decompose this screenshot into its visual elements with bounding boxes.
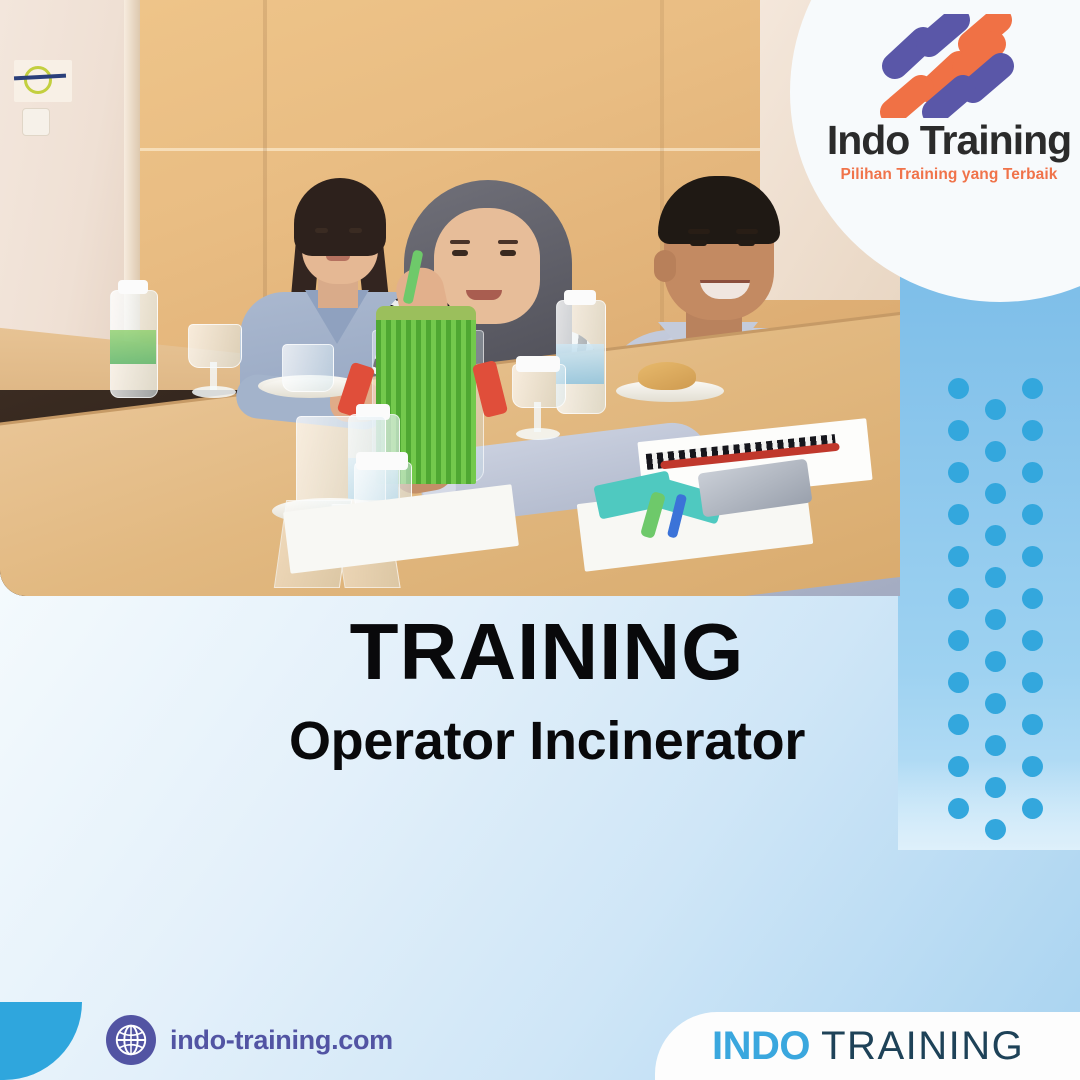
dot-grid-pattern [948,378,1058,840]
page-title: TRAINING [0,612,1080,692]
snack-food [638,362,696,390]
bottle-cap-1 [118,280,148,294]
bottle-label-1 [110,330,156,364]
tumbler-1 [282,344,334,392]
participant-center-brow-right [498,240,518,244]
website-link[interactable]: indo-training.com [106,1015,393,1065]
footer-wordmark-training: TRAINING [821,1024,1024,1068]
molecule-dumbbell-icon [869,14,1029,118]
glass-cover-3 [356,452,408,470]
training-classroom-photo [0,0,900,596]
glass-cover-2 [516,356,560,372]
footer-wordmark: INDO TRAINING [712,1021,1024,1071]
participant-left-mouth [326,256,350,261]
participant-center-eye-right [500,250,516,256]
light-switch [22,108,50,136]
page-subtitle: Operator Incinerator [0,714,1080,768]
website-url: indo-training.com [170,1025,393,1056]
participant-right-eye-left [690,240,707,246]
bottom-left-accent-shape [0,1002,82,1080]
poster-canvas: Indo Training Pilihan Training yang Terb… [0,0,1080,1080]
bottle-cap-2 [564,290,596,305]
footer-wordmark-indo: INDO [712,1024,810,1068]
globe-icon [106,1015,156,1065]
photo-scene [0,0,900,596]
wall-seam-vertical-1 [263,0,267,330]
participant-center-brow-left [450,240,470,244]
participant-left-eye-left [315,228,328,233]
wine-glass-1-foot [192,386,236,398]
no-smoking-circle-icon [24,66,52,94]
headline-block: TRAINING Operator Incinerator [0,612,1080,768]
grass-bundle-top [376,306,476,320]
brand-logo[interactable]: Indo Training Pilihan Training yang Terb… [818,14,1080,164]
participant-center-mouth [466,290,502,300]
logo-tagline: Pilihan Training yang Terbaik [840,166,1057,184]
wine-glass-2-foot [516,428,560,440]
participant-right-eye-right [738,240,755,246]
logo-wordmark: Indo Training [827,120,1071,161]
participant-right-brow-left [688,229,710,234]
participant-right-ear [654,250,676,282]
participant-right-brow-right [736,229,758,234]
participant-center-eye-left [452,250,468,256]
participant-left-eye-right [349,228,362,233]
